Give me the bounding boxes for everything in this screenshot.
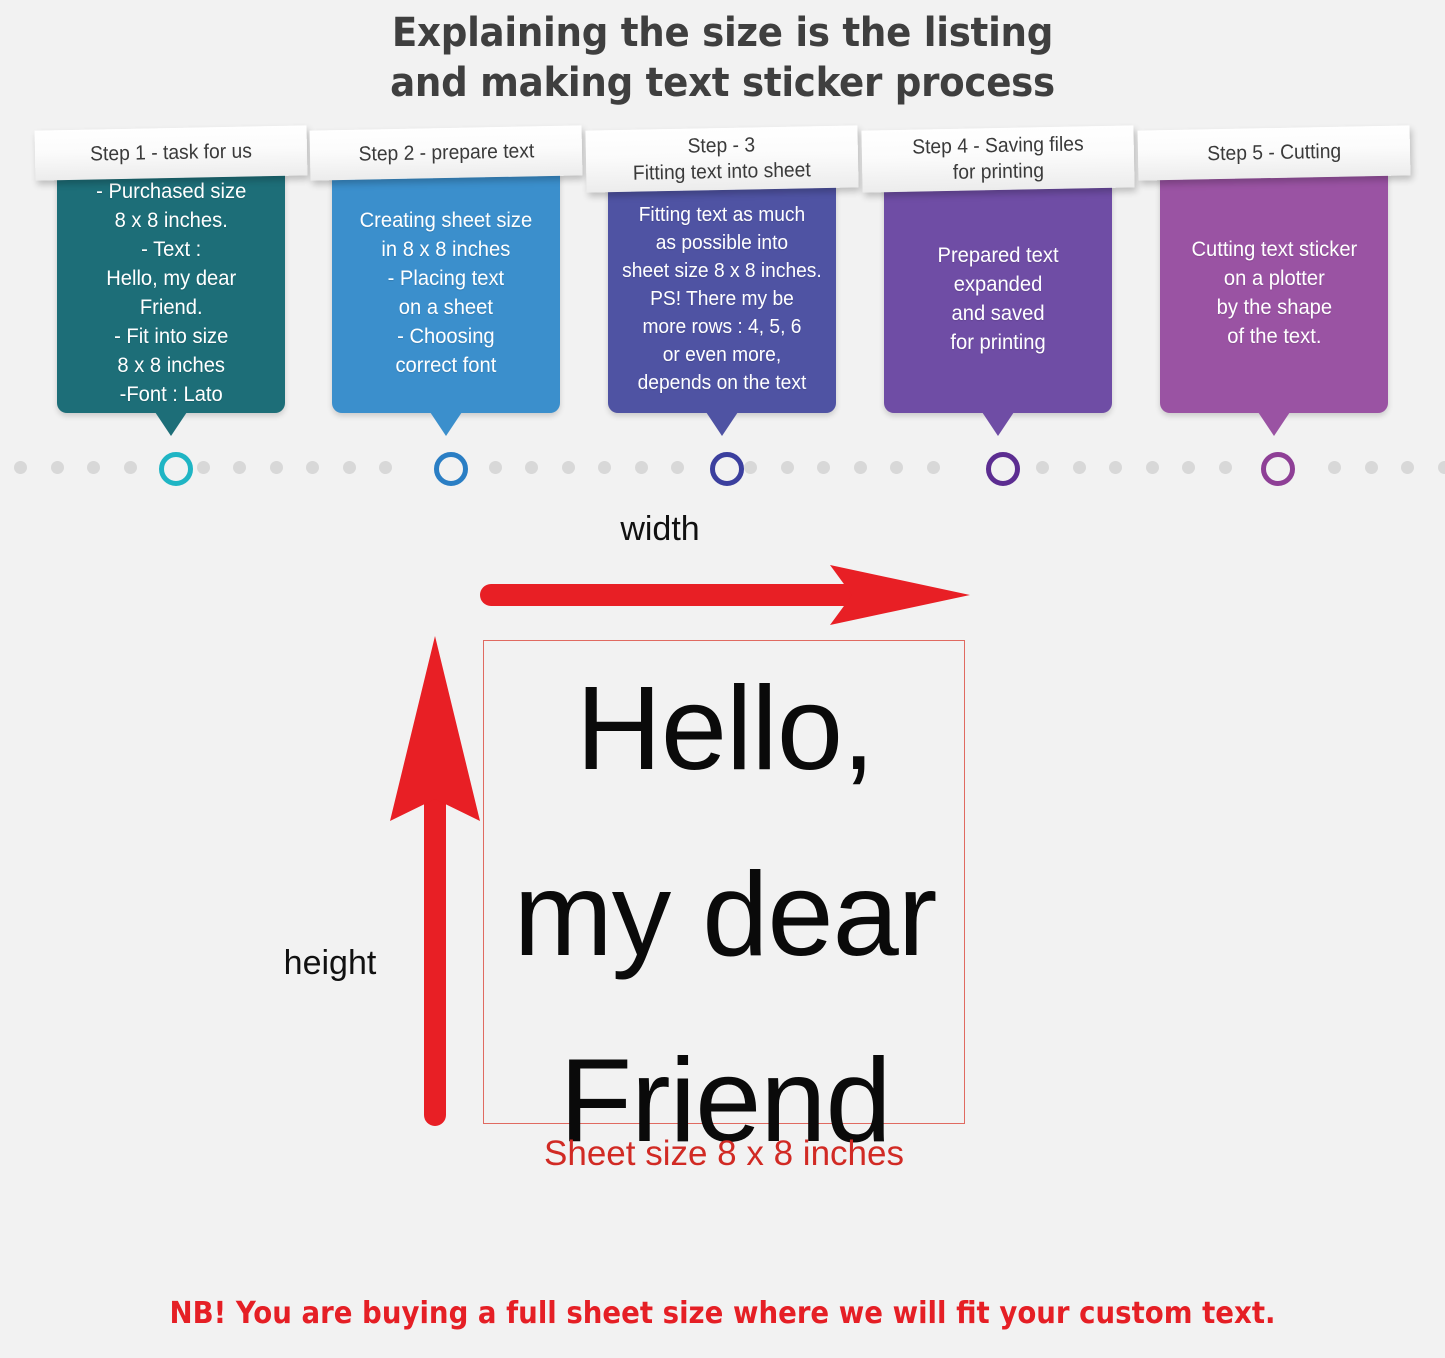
height-arrow-icon — [385, 636, 485, 1131]
timeline-dot — [817, 461, 830, 474]
step-2-ribbon: Step 2 - prepare text — [310, 125, 583, 180]
step-5-ribbon-label: Step 5 - Cutting — [1207, 139, 1341, 168]
step-5-body-text: Cutting text sticker on a plotter by the… — [1183, 235, 1364, 351]
timeline-marker-step-2[interactable] — [434, 452, 468, 486]
timeline-dot — [1401, 461, 1414, 474]
timeline-dot — [306, 461, 319, 474]
timeline-dot — [270, 461, 283, 474]
timeline-dot — [14, 461, 27, 474]
timeline-dot — [781, 461, 794, 474]
page-title-line-2: and making text sticker process — [51, 58, 1395, 108]
timeline-marker-step-4[interactable] — [986, 452, 1020, 486]
step-1-body-text: - Purchased size 8 x 8 inches. - Text : … — [88, 177, 254, 409]
step-2-body-text: Creating sheet size in 8 x 8 inches - Pl… — [352, 206, 540, 380]
timeline-dot — [489, 461, 502, 474]
timeline-dot — [927, 461, 940, 474]
step-3-ribbon-label: Step - 3 Fitting text into sheet — [633, 131, 812, 186]
step-2-pointer-icon — [430, 412, 462, 436]
timeline-dot — [635, 461, 648, 474]
step-4-body-text: Prepared text expanded and saved for pri… — [930, 241, 1066, 357]
step-5-body-card: Cutting text sticker on a plotter by the… — [1160, 173, 1388, 413]
timeline-dot — [51, 461, 64, 474]
page-title-line-1: Explaining the size is the listing — [51, 8, 1395, 58]
step-4-ribbon: Step 4 - Saving files for printing — [861, 125, 1134, 192]
timeline-dot — [1365, 461, 1378, 474]
timeline-marker-step-5[interactable] — [1261, 452, 1295, 486]
step-1-body-card: - Purchased size 8 x 8 inches. - Text : … — [57, 173, 285, 413]
step-2-body-card: Creating sheet size in 8 x 8 inches - Pl… — [332, 173, 560, 413]
timeline-dot — [854, 461, 867, 474]
timeline-dot — [1438, 461, 1445, 474]
timeline-dot — [1219, 461, 1232, 474]
timeline-marker-step-3[interactable] — [710, 452, 744, 486]
timeline-dot — [1328, 461, 1341, 474]
step-2-ribbon-label: Step 2 - prepare text — [358, 138, 534, 167]
timeline-dot — [1036, 461, 1049, 474]
step-3-body-card: Fitting text as much as possible into sh… — [608, 185, 836, 413]
sheet-size-box — [483, 640, 965, 1124]
timeline-dot — [1109, 461, 1122, 474]
step-1-ribbon-label: Step 1 - task for us — [90, 138, 252, 167]
step-5-ribbon: Step 5 - Cutting — [1138, 125, 1411, 180]
timeline-dot — [1182, 461, 1195, 474]
timeline-dot — [379, 461, 392, 474]
sheet-size-caption: Sheet size 8 x 8 inches — [424, 1134, 1024, 1174]
timeline-dot — [343, 461, 356, 474]
timeline-dot — [87, 461, 100, 474]
timeline-dot — [562, 461, 575, 474]
step-3-body-text: Fitting text as much as possible into sh… — [615, 201, 830, 397]
timeline-dot — [744, 461, 757, 474]
timeline-dot — [525, 461, 538, 474]
step-3-pointer-icon — [706, 412, 738, 436]
timeline — [0, 450, 1445, 486]
width-label: width — [560, 510, 760, 549]
page-title: Explaining the size is the listing and m… — [0, 8, 1445, 108]
timeline-dot — [671, 461, 684, 474]
timeline-dot — [1073, 461, 1086, 474]
timeline-dot — [1146, 461, 1159, 474]
steps-row: Step 1 - task for us - Purchased size 8 … — [0, 128, 1445, 448]
step-5-pointer-icon — [1258, 412, 1290, 436]
timeline-marker-step-1[interactable] — [159, 452, 193, 486]
timeline-dot — [890, 461, 903, 474]
timeline-dot — [233, 461, 246, 474]
timeline-dot — [598, 461, 611, 474]
step-3-ribbon: Step - 3 Fitting text into sheet — [585, 125, 858, 192]
timeline-dot — [197, 461, 210, 474]
step-1-pointer-icon — [155, 412, 187, 436]
step-4-pointer-icon — [982, 412, 1014, 436]
step-4-ribbon-label: Step 4 - Saving files for printing — [912, 131, 1084, 186]
step-4-body-card: Prepared text expanded and saved for pri… — [884, 185, 1112, 413]
bottom-note: NB! You are buying a full sheet size whe… — [58, 1296, 1387, 1331]
timeline-dot — [124, 461, 137, 474]
width-arrow-icon — [480, 560, 970, 630]
step-1-ribbon: Step 1 - task for us — [35, 125, 308, 180]
